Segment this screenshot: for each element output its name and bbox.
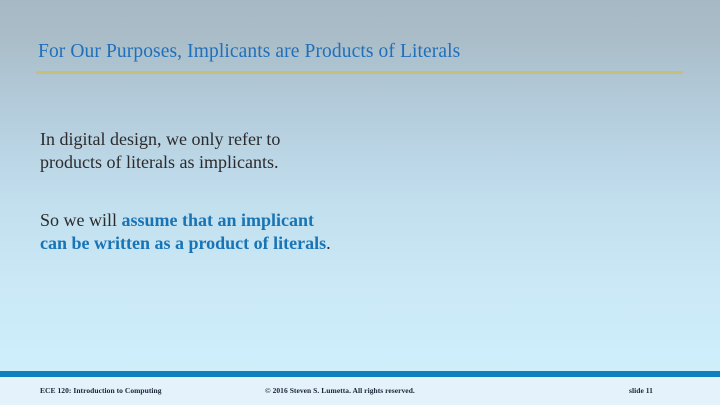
body-paragraph-1: In digital design, we only refer to prod…	[40, 128, 660, 173]
slide-body: In digital design, we only refer to prod…	[40, 128, 660, 254]
footer-copyright-label: © 2016 Steven S. Lumetta. All rights res…	[265, 386, 415, 395]
slide-title: For Our Purposes, Implicants are Product…	[38, 40, 688, 64]
paragraph-1-line-1: In digital design, we only refer to	[40, 129, 280, 149]
footer-slide-number: slide 11	[629, 386, 653, 395]
body-paragraph-2: So we will assume that an implicant can …	[40, 209, 660, 254]
paragraph-2-emphasis-line-1: assume that an implicant	[122, 210, 315, 230]
paragraph-2-lead-text: So we will	[40, 210, 122, 230]
footer-course-label: ECE 120: Introduction to Computing	[40, 386, 162, 395]
paragraph-1-line-2: products of literals as implicants.	[40, 152, 278, 172]
slide-canvas: For Our Purposes, Implicants are Product…	[0, 0, 720, 405]
title-underline-rule	[36, 71, 683, 74]
paragraph-2-emphasis-line-2: can be written as a product of literals	[40, 233, 326, 253]
paragraph-2-tail-period: .	[326, 233, 331, 253]
